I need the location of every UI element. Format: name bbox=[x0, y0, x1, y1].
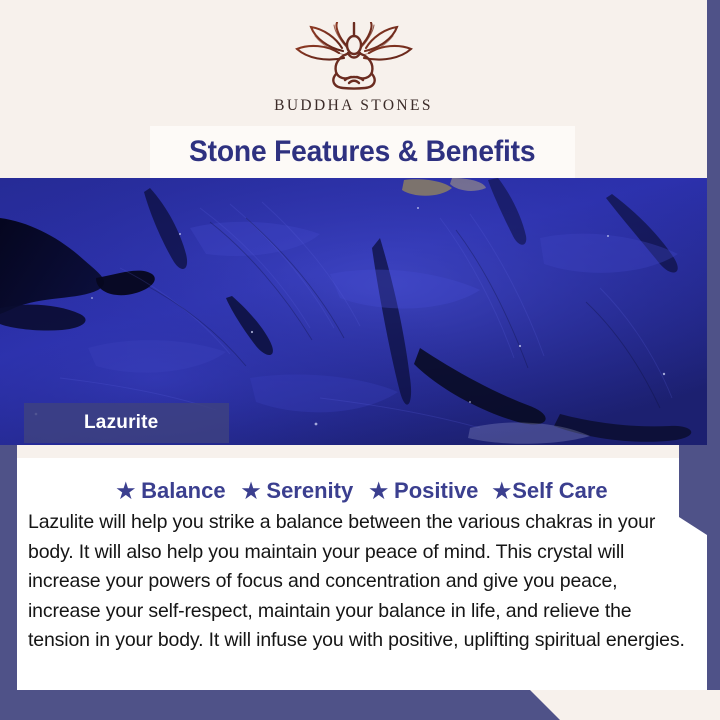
keyword-list: ★ Balance ★ Serenity ★ Positive ★ Self C… bbox=[17, 478, 707, 504]
infographic-page: BUDDHA STONES Stone Features & Benefits bbox=[0, 0, 720, 720]
brand-name: BUDDHA STONES bbox=[274, 97, 433, 115]
stone-name-badge: Lazurite bbox=[24, 403, 229, 443]
keyword-serenity: ★ Serenity bbox=[242, 478, 354, 504]
star-icon: ★ bbox=[242, 481, 261, 502]
keyword-positive: ★ Positive bbox=[369, 478, 478, 504]
star-icon: ★ bbox=[116, 481, 135, 502]
keyword-balance: ★ Balance bbox=[116, 478, 225, 504]
stone-name: Lazurite bbox=[84, 412, 158, 434]
page-title-band: Stone Features & Benefits bbox=[150, 126, 575, 178]
description-paragraph: Lazulite will help you strike a balance … bbox=[28, 508, 690, 656]
brand-logo: BUDDHA STONES bbox=[0, 22, 707, 115]
star-icon: ★ bbox=[369, 481, 388, 502]
keyword-label: Serenity bbox=[266, 478, 353, 504]
page-title: Stone Features & Benefits bbox=[189, 135, 535, 169]
star-icon: ★ bbox=[492, 481, 511, 502]
content-top-strip bbox=[17, 445, 707, 458]
keyword-label: Self Care bbox=[512, 478, 607, 504]
keyword-self-care: ★ Self Care bbox=[492, 478, 607, 504]
lotus-meditation-icon bbox=[281, 22, 427, 90]
keyword-label: Positive bbox=[394, 478, 478, 504]
frame-accent-right bbox=[707, 0, 720, 690]
keyword-label: Balance bbox=[141, 478, 225, 504]
header: BUDDHA STONES Stone Features & Benefits bbox=[0, 0, 707, 178]
bottom-accent-band bbox=[0, 690, 560, 720]
